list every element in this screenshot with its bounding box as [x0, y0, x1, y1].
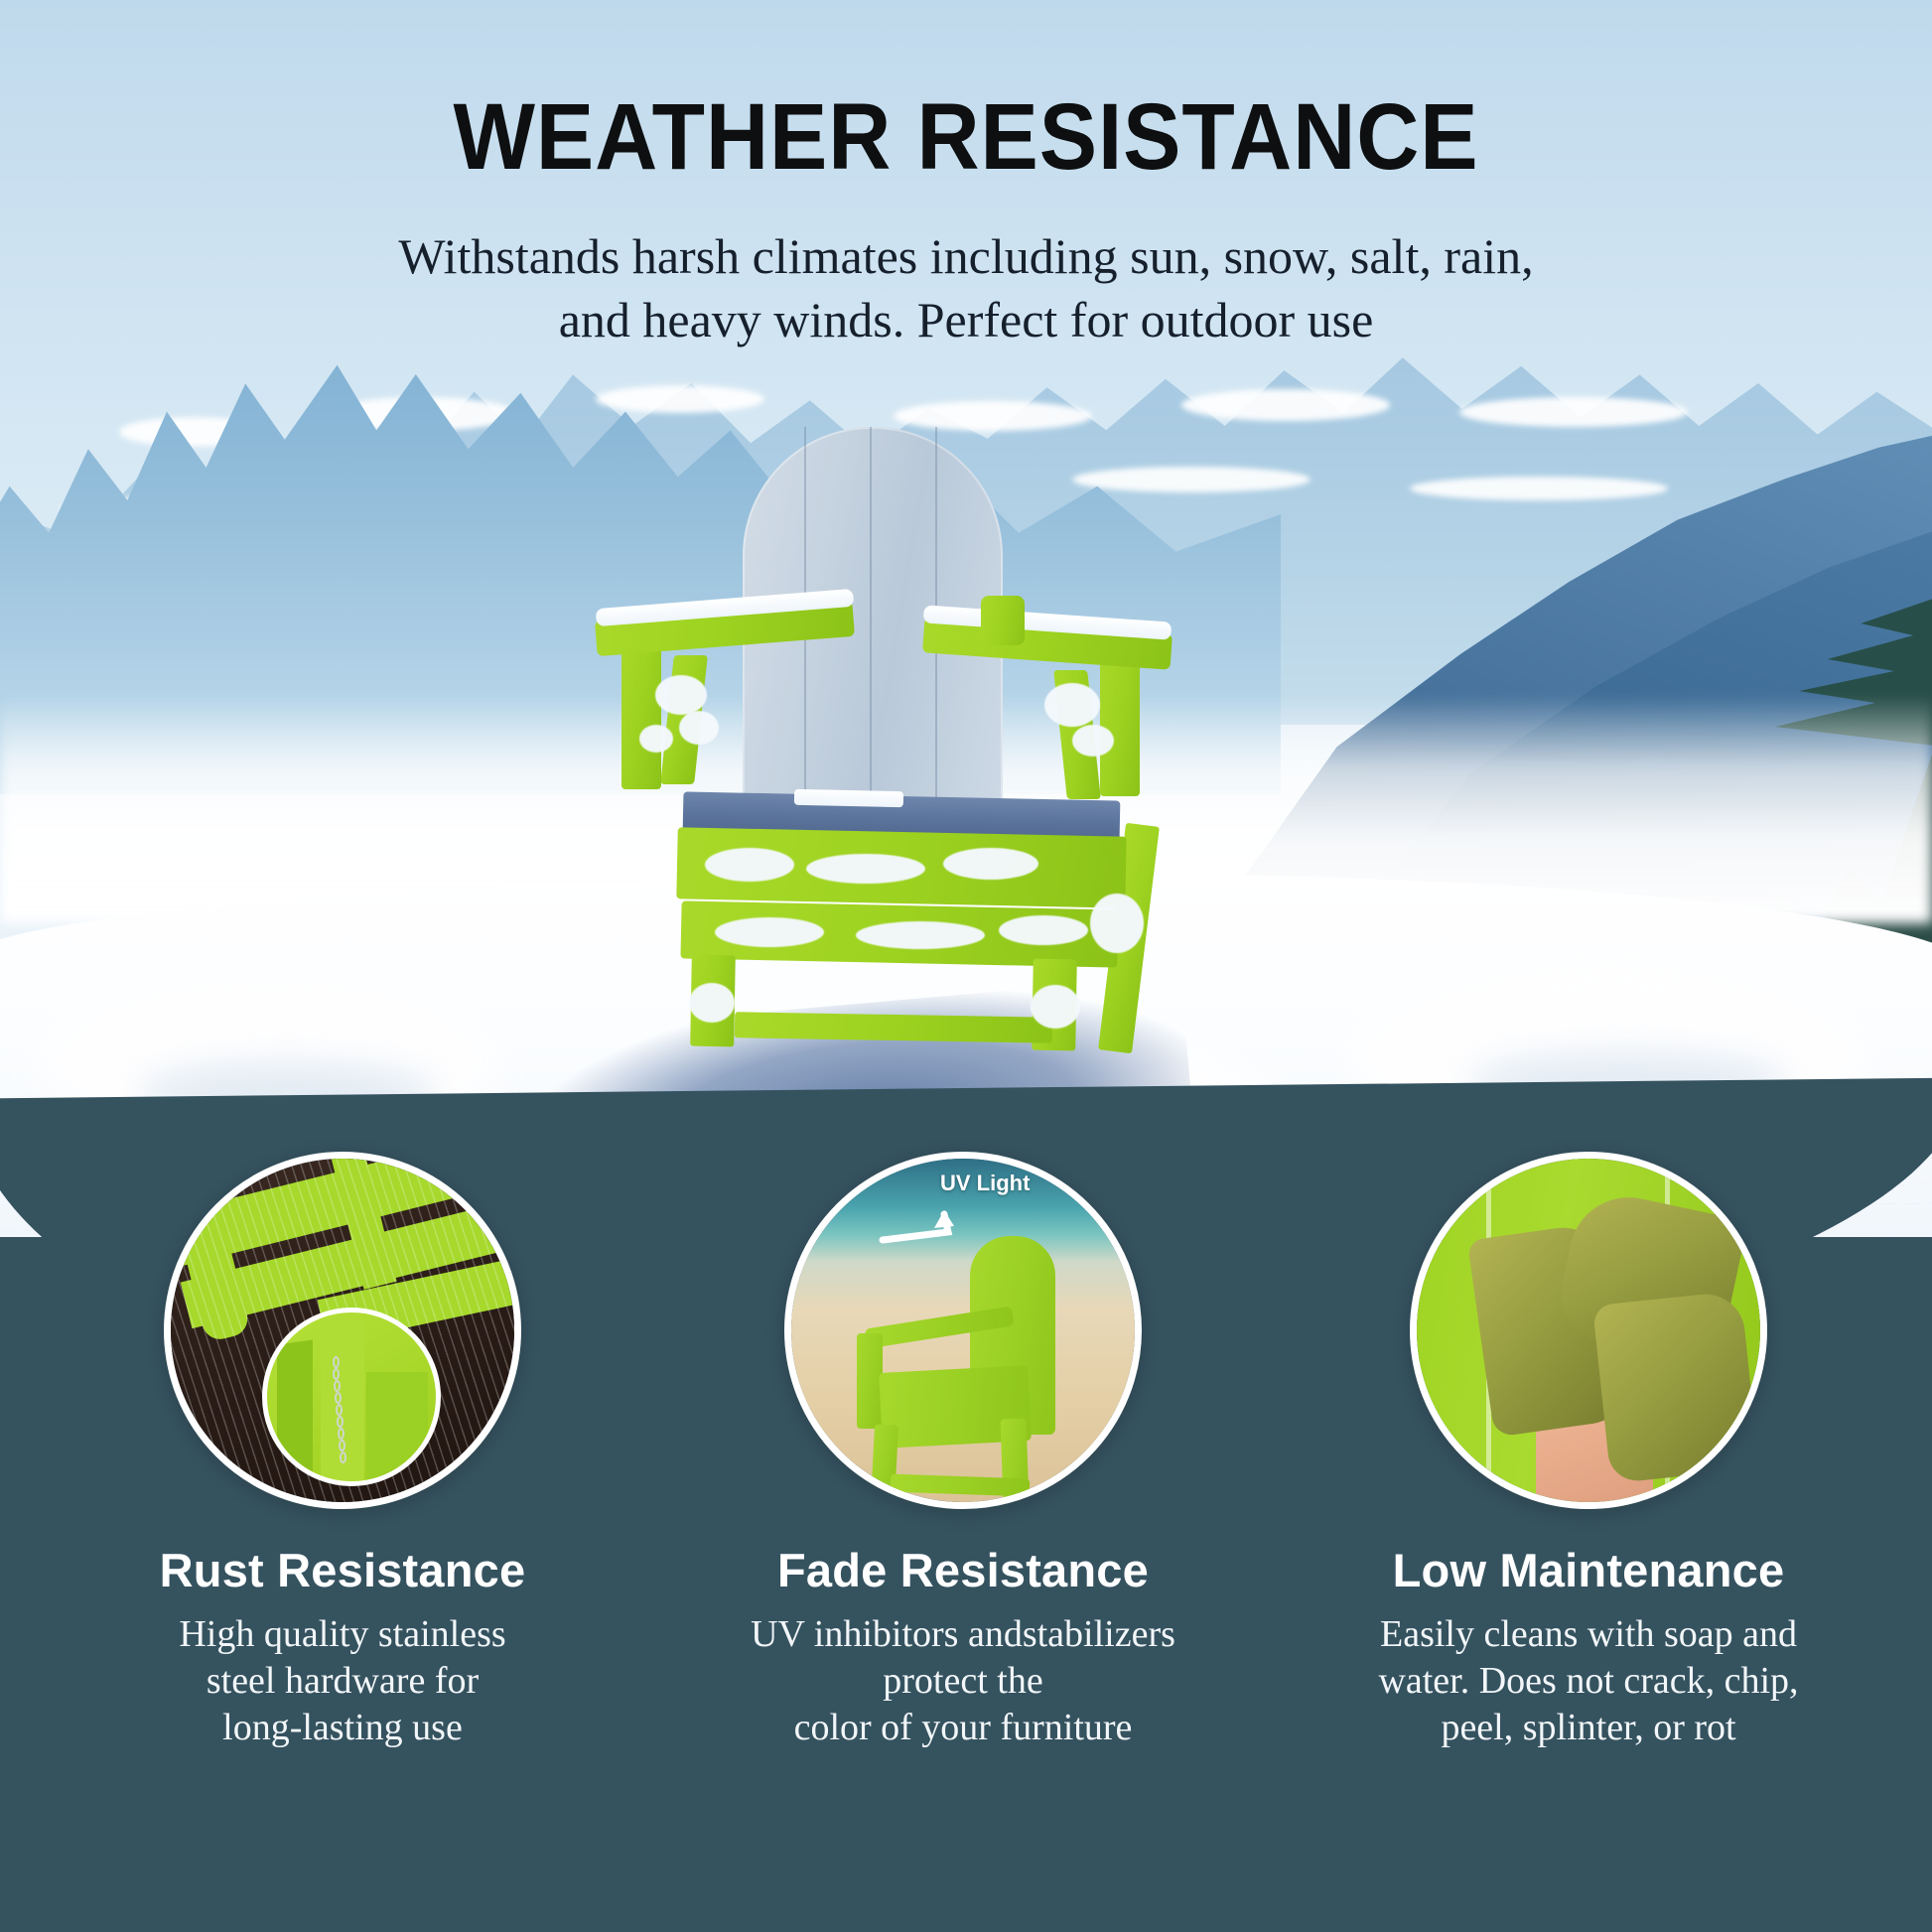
feature-title-rust-resistance: Rust Resistance: [30, 1543, 655, 1597]
page-title: WEATHER RESISTANCE: [77, 83, 1855, 192]
desc-line-2: water. Does not crack, chip,: [1276, 1658, 1901, 1705]
hero-chair: [596, 427, 1231, 1042]
uv-light-arrow: [879, 1210, 988, 1252]
snow-patch: [596, 385, 764, 413]
snow-patch: [1459, 397, 1688, 427]
desc-line-3: long-lasting use: [30, 1705, 655, 1751]
feature-fade-resistance: UV Light Fade Resistance UV inhibitors a…: [650, 1152, 1276, 1751]
page-subtitle: Withstands harsh climates including sun,…: [0, 224, 1932, 351]
chair-seat-snow: [794, 789, 903, 807]
chair-arm-post-left: [621, 630, 661, 789]
beach-background: UV Light: [791, 1159, 1135, 1502]
feature-low-maintenance: Low Maintenance Easily cleans with soap …: [1276, 1152, 1901, 1751]
desc-line-3: color of your furniture: [650, 1705, 1276, 1751]
feature-title-low-maintenance: Low Maintenance: [1276, 1543, 1901, 1597]
feature-image-low-maintenance: [1410, 1152, 1767, 1509]
feature-image-rust-resistance: [164, 1152, 521, 1509]
desc-line-1: UV inhibitors andstabilizers: [650, 1611, 1276, 1658]
chair-headrest-knob: [981, 596, 1025, 645]
subtitle-line-2: and heavy winds. Perfect for outdoor use: [0, 288, 1932, 351]
microfiber-cloth-right: [1592, 1291, 1759, 1484]
green-surface-background: [1417, 1159, 1760, 1502]
uv-light-label: UV Light: [940, 1171, 1030, 1196]
feature-desc-rust-resistance: High quality stainless steel hardware fo…: [30, 1611, 655, 1751]
beach-chair-leg-front: [871, 1424, 898, 1504]
infographic-poster: WEATHER RESISTANCE Withstands harsh clim…: [0, 0, 1932, 1932]
hardware-chain-inset: [262, 1308, 441, 1486]
desc-line-2: protect the: [650, 1658, 1276, 1705]
desc-line-1: Easily cleans with soap and: [1276, 1611, 1901, 1658]
desc-line-3: peel, splinter, or rot: [1276, 1705, 1901, 1751]
chair-arm-post-right: [1100, 647, 1140, 796]
snow-patch: [1181, 389, 1390, 421]
feature-image-fade-resistance: UV Light: [784, 1152, 1142, 1509]
beach-chair-stretcher: [891, 1474, 1031, 1497]
desc-line-1: High quality stainless: [30, 1611, 655, 1658]
chair-stretcher: [735, 1012, 1052, 1043]
snow-patch: [1410, 477, 1668, 500]
feature-desc-fade-resistance: UV inhibitors andstabilizers protect the…: [650, 1611, 1276, 1751]
feature-rust-resistance: Rust Resistance High quality stainless s…: [30, 1152, 655, 1751]
feature-title-fade-resistance: Fade Resistance: [650, 1543, 1276, 1597]
subtitle-line-1: Withstands harsh climates including sun,…: [0, 224, 1932, 288]
desc-line-2: steel hardware for: [30, 1658, 655, 1705]
feature-desc-low-maintenance: Easily cleans with soap and water. Does …: [1276, 1611, 1901, 1751]
